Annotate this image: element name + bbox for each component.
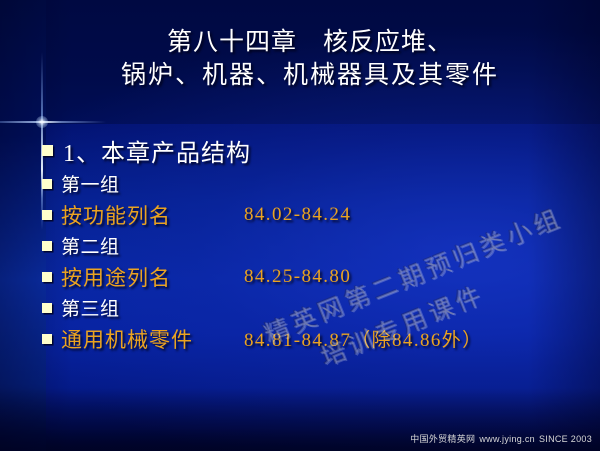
bullet-square-icon [42, 272, 52, 282]
presentation-slide: 第八十四章 核反应堆、 锅炉、机器、机械器具及其零件 1、本章产品结构 第一组 … [0, 0, 600, 451]
list-item-label: 按功能列名 [61, 200, 171, 230]
footer-since: SINCE 2003 [539, 434, 592, 444]
list-item-code-range: 84.81-84.87（除84.86外） [244, 325, 483, 352]
list-item-label: 第二组 [61, 232, 120, 259]
bullet-square-icon [42, 303, 52, 313]
glint-horizontal-ray-icon [0, 121, 106, 123]
bullet-square-icon [42, 145, 53, 156]
list-item-label: 1、本章产品结构 [63, 133, 251, 168]
list-item: 第三组 [42, 292, 587, 323]
list-item: 第一组 [42, 168, 587, 199]
list-item-label: 第三组 [61, 294, 120, 321]
list-item-label: 第一组 [61, 170, 120, 197]
bullet-square-icon [42, 334, 52, 344]
slide-title-line-1: 第八十四章 核反应堆、 [60, 26, 560, 59]
bullet-square-icon [42, 210, 52, 220]
glint-star-icon [36, 116, 48, 128]
footer-url: www.jying.cn [479, 434, 535, 444]
bullet-square-icon [42, 241, 52, 251]
slide-title: 第八十四章 核反应堆、 锅炉、机器、机械器具及其零件 [60, 26, 560, 92]
list-item-label: 按用途列名 [61, 262, 171, 292]
bullet-square-icon [42, 179, 52, 189]
footer-site-name: 中国外贸精英网 [410, 434, 475, 444]
list-item-code-range: 84.25-84.80 [244, 266, 351, 288]
slide-title-line-2: 锅炉、机器、机械器具及其零件 [60, 59, 560, 92]
list-item: 按用途列名 84.25-84.80 [42, 261, 587, 292]
footer: 中国外贸精英网www.jying.cnSINCE 2003 [410, 432, 592, 445]
list-item-code-range: 84.02-84.24 [244, 204, 351, 226]
list-item: 1、本章产品结构 [42, 132, 587, 168]
list-item-label: 通用机械零件 [61, 324, 193, 354]
list-item: 按功能列名 84.02-84.24 [42, 199, 587, 230]
list-item: 第二组 [42, 230, 587, 261]
list-item: 通用机械零件 84.81-84.87（除84.86外） [42, 323, 587, 354]
bullet-list: 1、本章产品结构 第一组 按功能列名 84.02-84.24 第二组 按用途列名… [42, 132, 587, 354]
